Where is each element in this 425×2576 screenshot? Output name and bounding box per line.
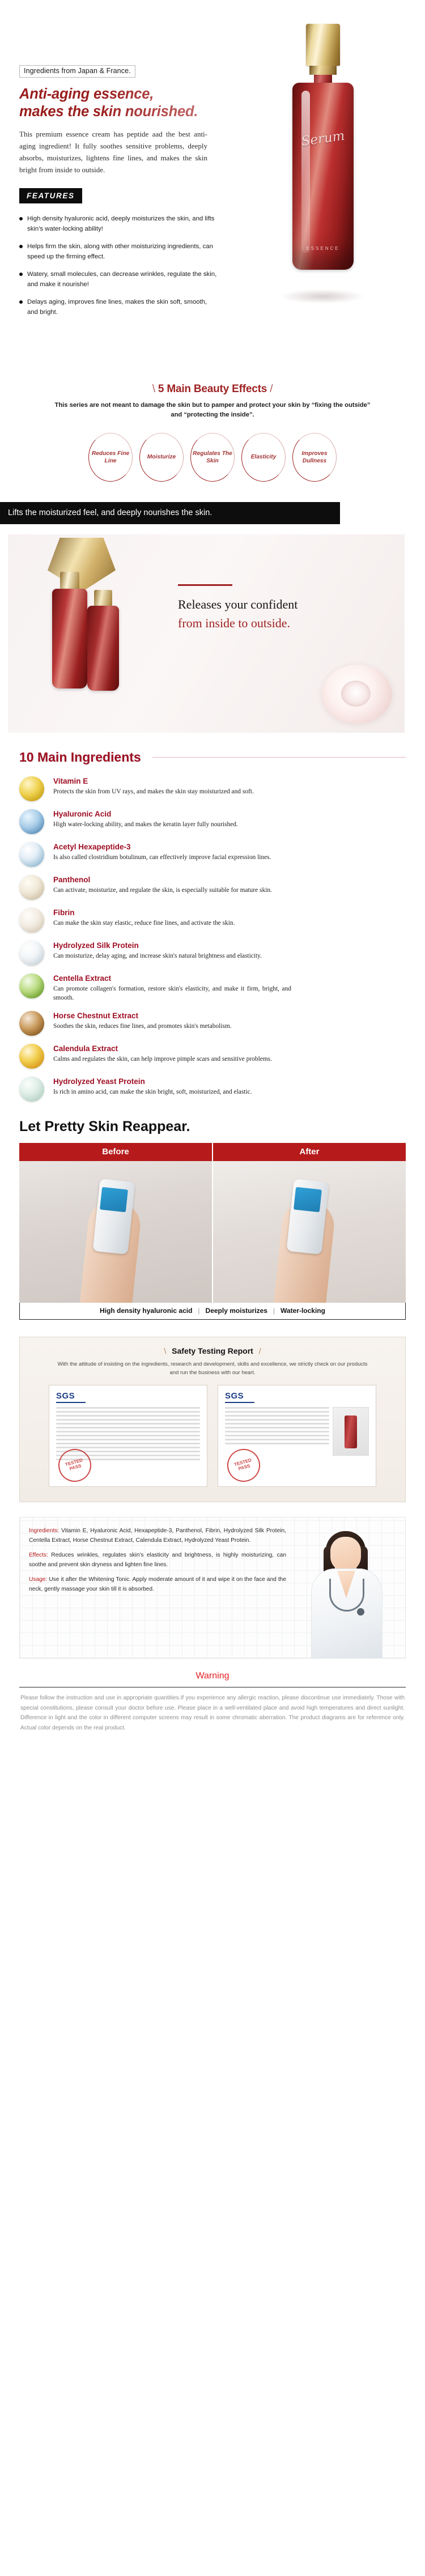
ingredient-name: Fibrin — [53, 908, 235, 918]
sgs-document[interactable]: SGS TESTED PASS — [49, 1385, 207, 1487]
ingredient-body: Vitamin E Protects the skin from UV rays… — [53, 776, 254, 796]
logo-rule — [225, 1402, 254, 1403]
footer-separator: | — [198, 1307, 199, 1315]
before-photo — [19, 1161, 212, 1303]
hero-section: Ingredients from Japan & France. Anti-ag… — [0, 0, 425, 363]
features-badge: FEATURES — [19, 188, 82, 203]
hero-copy: Ingredients from Japan & France. Anti-ag… — [19, 65, 235, 325]
bottle-cap-small — [94, 590, 112, 607]
document-body — [225, 1407, 369, 1456]
ingredients-label: Ingredients: — [29, 1528, 59, 1534]
rose-decor-image — [322, 665, 392, 724]
device-screen — [294, 1187, 322, 1212]
ingredient-desc: Is also called clostridium botulinum, ca… — [53, 853, 271, 862]
confidence-copy: Releases your confident from inside to o… — [178, 584, 365, 632]
footer-claim: Water-locking — [280, 1307, 325, 1315]
product-bottle-image: Serum ESSENCE — [257, 24, 399, 307]
ingredient-thumb-icon — [19, 809, 44, 834]
ingredient-name: Panthenol — [53, 875, 272, 885]
before-label: Before — [19, 1143, 212, 1161]
ingredient-row: Centella Extract Can promote collagen's … — [19, 974, 406, 1003]
ingredient-name: Hyaluronic Acid — [53, 810, 238, 819]
effect-label: Reduces Fine Line — [89, 450, 132, 465]
effect-label: Elasticity — [251, 453, 277, 461]
product-info-panel: Ingredients: Vitamin E, Hyaluronic Acid,… — [19, 1517, 406, 1659]
ingredient-thumb-icon — [19, 875, 44, 900]
sgs-logo: SGS — [225, 1391, 369, 1401]
after-label: After — [212, 1143, 406, 1161]
warning-divider — [19, 1687, 406, 1687]
beauty-effects-subtitle: This series are not meant to damage the … — [54, 401, 371, 420]
ingredient-thumb-icon — [19, 1077, 44, 1102]
ingredient-row: Hydrolyzed Yeast Protein Is rich in amin… — [19, 1077, 406, 1102]
bullet-dot-icon — [19, 300, 23, 304]
ingredient-thumb-icon — [19, 941, 44, 966]
ingredient-thumb-icon — [19, 974, 44, 998]
ingredient-name: Acetyl Hexapeptide-3 — [53, 843, 271, 852]
doctor-face — [330, 1537, 361, 1572]
ingredient-name: Vitamin E — [53, 777, 254, 787]
effect-circle: Elasticity — [241, 433, 286, 482]
document-text-lines — [225, 1407, 329, 1444]
before-after-title: Let Pretty Skin Reappear. — [0, 1119, 425, 1143]
hero-lead-paragraph: This premium essence cream has peptide a… — [19, 128, 207, 176]
feature-item: Delays aging, improves fine lines, makes… — [19, 297, 219, 318]
confidence-line-2: from inside to outside. — [178, 614, 365, 632]
safety-report-subtitle: With the attitude of insisting on the in… — [54, 1360, 371, 1377]
feature-item: High density hyaluronic acid, deeply moi… — [19, 214, 219, 235]
usage-label: Usage: — [29, 1576, 47, 1583]
bullet-dot-icon — [19, 217, 23, 220]
ingredients-header: 10 Main Ingredients — [0, 750, 425, 765]
feature-item: Helps firm the skin, along with other mo… — [19, 241, 219, 262]
beauty-effects-section: \ 5 Main Beauty Effects / This series ar… — [0, 363, 425, 499]
doctor-illustration — [294, 1527, 399, 1658]
ingredient-row: Hydrolyzed Silk Protein Can moisturize, … — [19, 941, 406, 966]
beauty-effects-circles: Reduces Fine Line Moisturize Regulates T… — [0, 433, 425, 482]
slash-right-decor: / — [270, 383, 273, 395]
confidence-section: Releases your confident from inside to o… — [8, 534, 405, 733]
beauty-effects-title-text: 5 Main Beauty Effects — [158, 383, 267, 395]
feature-item: Watery, small molecules, can decrease wr… — [19, 269, 219, 290]
ingredient-thumb-icon — [19, 1011, 44, 1036]
origin-tag: Ingredients from Japan & France. — [19, 65, 135, 78]
document-text-column — [225, 1407, 329, 1456]
ingredient-body: Hyaluronic Acid High water-locking abili… — [53, 809, 238, 829]
bottle-brand-label: ESSENCE — [292, 246, 354, 251]
ingredient-desc: Soothes the skin, reduces fine lines, an… — [53, 1022, 232, 1031]
bullet-dot-icon — [19, 245, 23, 248]
ingredient-name: Centella Extract — [53, 974, 291, 984]
slash-left-decor: \ — [152, 383, 155, 395]
effect-label: Moisturize — [147, 453, 176, 461]
warning-title: Warning — [19, 1671, 406, 1687]
warning-body: Please follow the instruction and use in… — [19, 1693, 406, 1733]
ingredients-list: Vitamin E Protects the skin from UV rays… — [0, 776, 425, 1102]
bottle-highlight — [301, 91, 310, 253]
ingredient-name: Hydrolyzed Silk Protein — [53, 941, 262, 951]
ingredient-thumb-icon — [19, 842, 44, 867]
ingredient-row: Acetyl Hexapeptide-3 Is also called clos… — [19, 842, 406, 867]
usage-text: Use it after the Whitening Tonic. Apply … — [29, 1576, 286, 1592]
feature-text: Helps firm the skin, along with other mo… — [27, 241, 219, 262]
sgs-document[interactable]: SGS TESTED PASS — [218, 1385, 376, 1487]
footer-separator: | — [273, 1307, 275, 1315]
effect-circle: Moisturize — [139, 433, 184, 482]
effects-text: Reduces wrinkles, regulates skin's elast… — [29, 1552, 286, 1568]
moisture-banner: Lifts the moisturized feel, and deeply n… — [0, 502, 340, 524]
bullet-dot-icon — [19, 273, 23, 276]
ingredient-body: Panthenol Can activate, moisturize, and … — [53, 875, 272, 895]
ingredient-row: Calendula Extract Calms and regulates th… — [19, 1044, 406, 1069]
before-after-footer: High density hyaluronic acid | Deeply mo… — [19, 1303, 406, 1320]
usage-paragraph: Usage: Use it after the Whitening Tonic.… — [29, 1575, 286, 1594]
feature-text: High density hyaluronic acid, deeply moi… — [27, 214, 219, 235]
bottle-cap — [306, 24, 340, 66]
effect-circle: Regulates The Skin — [190, 433, 235, 482]
ingredients-title: 10 Main Ingredients — [19, 750, 141, 765]
ingredient-row: Horse Chestnut Extract Soothes the skin,… — [19, 1011, 406, 1036]
feature-text: Delays aging, improves fine lines, makes… — [27, 297, 219, 318]
product-photo-thumb — [333, 1407, 369, 1456]
confidence-line-1: Releases your confident — [178, 595, 365, 614]
safety-report-title-text: Safety Testing Report — [172, 1346, 253, 1355]
hero-headline: Anti-aging essence, makes the skin nouri… — [19, 86, 235, 121]
headline-line-1: Anti-aging essence, — [19, 86, 154, 102]
ingredient-row: Fibrin Can make the skin stay elastic, r… — [19, 908, 406, 933]
ingredient-row: Hyaluronic Acid High water-locking abili… — [19, 809, 406, 834]
ingredient-body: Fibrin Can make the skin stay elastic, r… — [53, 908, 235, 928]
after-photo — [212, 1161, 406, 1303]
warning-section: Warning Please follow the instruction an… — [19, 1671, 406, 1733]
ingredients-section: 10 Main Ingredients Vitamin E Protects t… — [0, 733, 425, 1115]
ingredient-name: Horse Chestnut Extract — [53, 1011, 232, 1021]
ingredient-desc: High water-locking ability, and makes th… — [53, 820, 238, 830]
footer-claim: Deeply moisturizes — [206, 1307, 267, 1315]
before-after-headers: Before After — [19, 1143, 406, 1161]
ingredient-name: Calendula Extract — [53, 1044, 272, 1054]
bottle-front — [52, 589, 87, 688]
features-list: High density hyaluronic acid, deeply moi… — [19, 214, 219, 318]
ingredient-desc: Is rich in amino acid, can make the skin… — [53, 1087, 252, 1097]
effect-label: Improves Dullness — [293, 450, 336, 465]
safety-report-section: \ Safety Testing Report / With the attit… — [19, 1337, 406, 1502]
sgs-logo: SGS — [56, 1391, 200, 1401]
before-after-section: Let Pretty Skin Reappear. Before After — [0, 1115, 425, 1332]
safety-report-title: \ Safety Testing Report / — [20, 1346, 405, 1355]
ingredient-thumb-icon — [19, 776, 44, 801]
before-after-images — [19, 1161, 406, 1303]
bottle-shadow — [280, 289, 365, 304]
slash-right-decor: / — [259, 1346, 261, 1355]
logo-rule — [56, 1402, 86, 1403]
slash-left-decor: \ — [164, 1346, 166, 1355]
ingredient-desc: Can activate, moisturize, and regulate t… — [53, 886, 272, 895]
header-divider — [152, 757, 406, 758]
effects-label: Effects: — [29, 1552, 48, 1558]
device-screen — [100, 1187, 128, 1212]
ingredient-row: Vitamin E Protects the skin from UV rays… — [19, 776, 406, 801]
ingredient-desc: Protects the skin from UV rays, and make… — [53, 787, 254, 797]
ingredient-row: Panthenol Can activate, moisturize, and … — [19, 875, 406, 900]
safety-documents: SGS TESTED PASS SGS TES — [20, 1385, 405, 1487]
effects-paragraph: Effects: Reduces wrinkles, regulates ski… — [29, 1551, 286, 1570]
ingredient-thumb-icon — [19, 1044, 44, 1069]
headline-line-2: makes the skin nourished. — [19, 104, 198, 120]
ingredient-desc: Can promote collagen's formation, restor… — [53, 984, 291, 1003]
ingredients-paragraph: Ingredients: Vitamin E, Hyaluronic Acid,… — [29, 1527, 286, 1545]
bottle-cap-small — [60, 572, 79, 590]
ingredient-desc: Can make the skin stay elastic, reduce f… — [53, 919, 235, 928]
effect-circle: Reduces Fine Line — [88, 433, 133, 482]
ingredient-body: Hydrolyzed Yeast Protein Is rich in amin… — [53, 1077, 252, 1096]
ingredient-body: Horse Chestnut Extract Soothes the skin,… — [53, 1011, 232, 1031]
product-detail-page: Ingredients from Japan & France. Anti-ag… — [0, 0, 425, 1748]
accent-rule — [178, 584, 232, 586]
footer-claim: High density hyaluronic acid — [100, 1307, 192, 1315]
ingredient-body: Acetyl Hexapeptide-3 Is also called clos… — [53, 842, 271, 862]
ingredient-desc: Can moisturize, delay aging, and increas… — [53, 951, 262, 961]
before-after-card: Before After High density hyaluronic aci… — [19, 1143, 406, 1320]
ingredient-name: Hydrolyzed Yeast Protein — [53, 1077, 252, 1087]
bottle-collar — [309, 66, 337, 75]
gold-ribbon-decor — [48, 538, 116, 592]
bottle-back — [87, 606, 119, 691]
feature-text: Watery, small molecules, can decrease wr… — [27, 269, 219, 290]
ingredient-thumb-icon — [19, 908, 44, 933]
ingredient-body: Calendula Extract Calms and regulates th… — [53, 1044, 272, 1064]
ingredients-text: Vitamin E, Hyaluronic Acid, Hexapeptide-… — [29, 1528, 286, 1544]
effect-circle: Improves Dullness — [292, 433, 337, 482]
ingredient-body: Hydrolyzed Silk Protein Can moisturize, … — [53, 941, 262, 960]
effect-label: Regulates The Skin — [191, 450, 234, 465]
ingredient-body: Centella Extract Can promote collagen's … — [53, 974, 291, 1003]
beauty-effects-title: \ 5 Main Beauty Effects / — [140, 383, 286, 396]
ingredient-desc: Calms and regulates the skin, can help i… — [53, 1055, 272, 1064]
